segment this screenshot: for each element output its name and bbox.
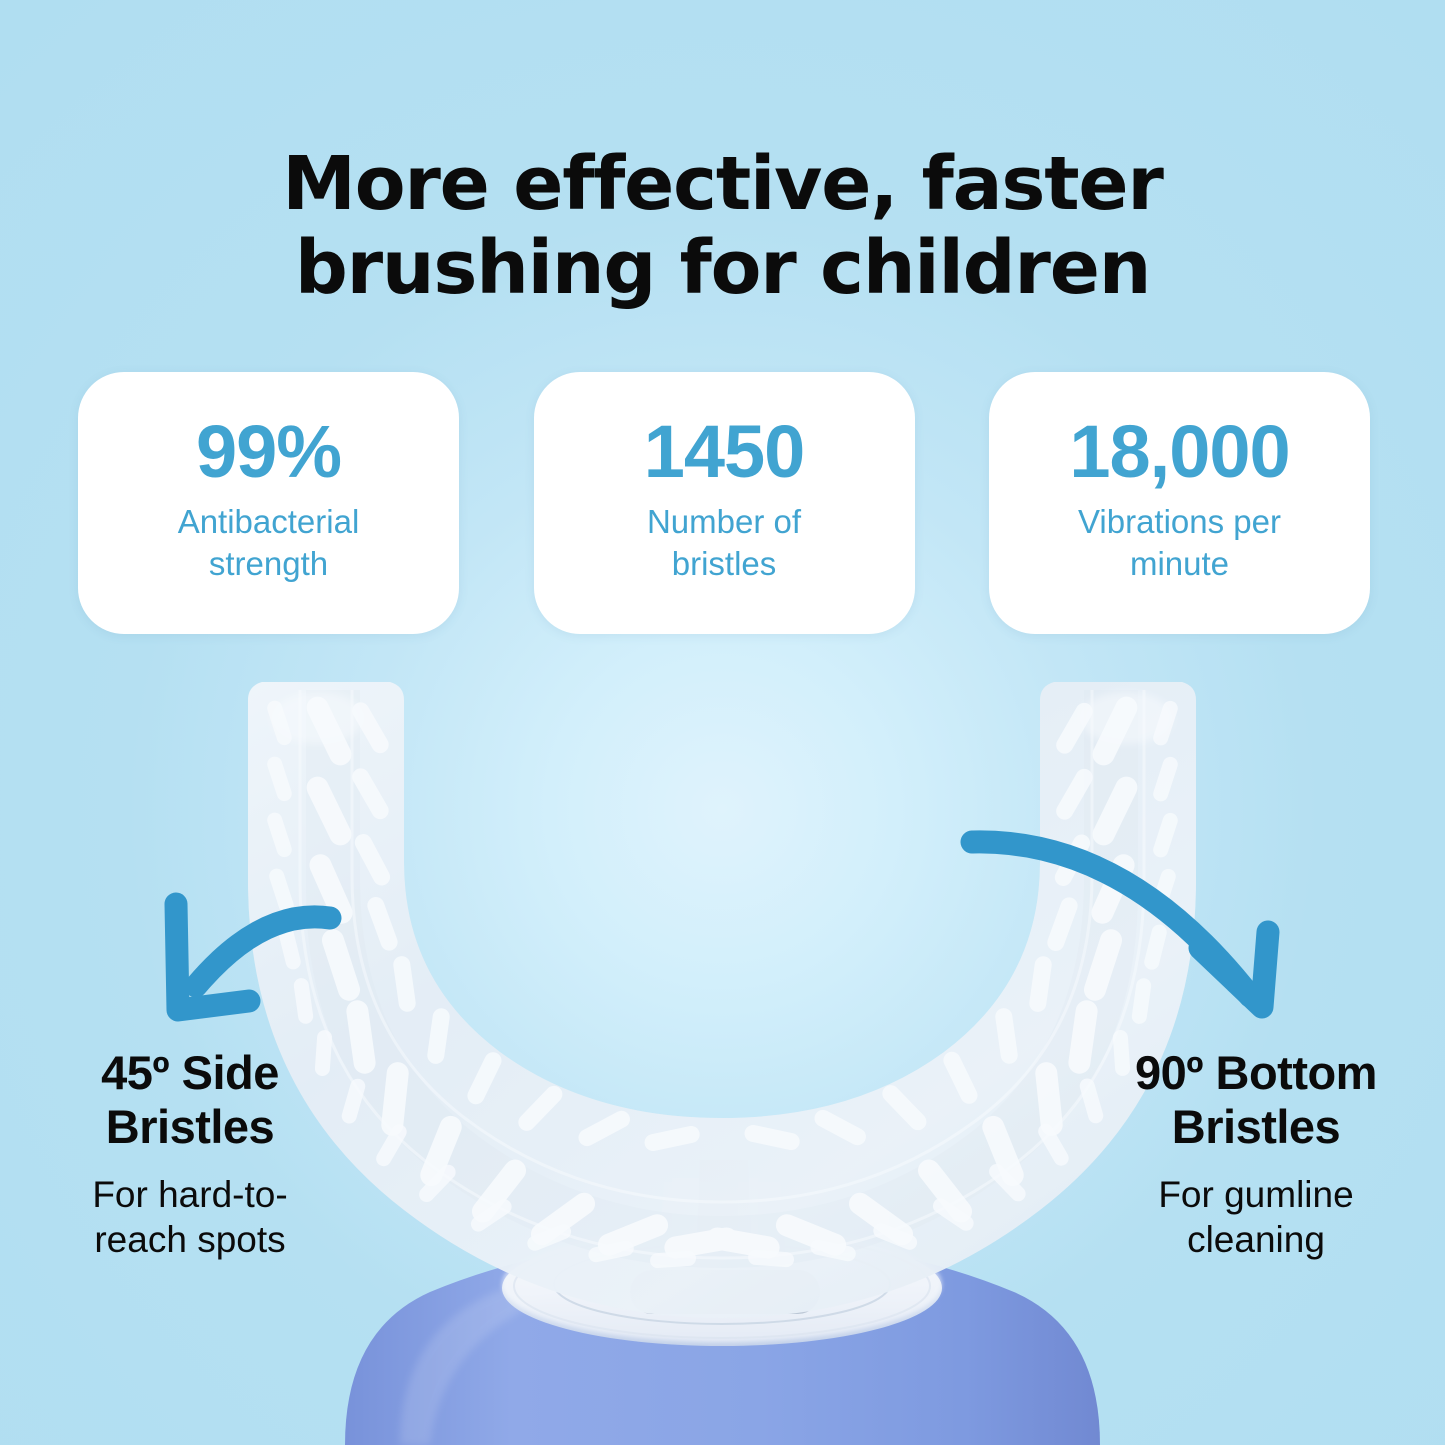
stat-label: Vibrations per minute [1078, 501, 1281, 584]
stat-label-line-2: bristles [672, 545, 777, 582]
stat-label: Antibacterial strength [178, 501, 360, 584]
stat-card-list: 99% Antibacterial strength 1450 Number o… [78, 372, 1370, 634]
stat-label-line-1: Antibacterial [178, 503, 360, 540]
promo-graphic: More effective, faster brushing for chil… [0, 0, 1445, 1445]
callout-subtitle: For gumline cleaning [1081, 1173, 1431, 1262]
brush-head-collar [502, 1226, 942, 1346]
callout-bottom-bristles: 90º Bottom Bristles For gumline cleaning [1081, 1046, 1431, 1262]
stat-card-antibacterial: 99% Antibacterial strength [78, 372, 459, 634]
bristle-rows-inner [349, 699, 1096, 1152]
bristle-rows-middle [303, 693, 1141, 1260]
callout-subtitle: For hard-to- reach spots [20, 1173, 360, 1262]
stat-card-bristles: 1450 Number of bristles [534, 372, 915, 634]
callout-side-bristles: 45º Side Bristles For hard-to- reach spo… [20, 1046, 360, 1262]
stat-value: 1450 [644, 415, 805, 489]
stat-label: Number of bristles [647, 501, 801, 584]
stat-label-line-2: strength [209, 545, 328, 582]
callout-title-line-2: Bristles [106, 1100, 274, 1153]
callout-sub-line-1: For gumline [1158, 1174, 1353, 1215]
callout-title: 45º Side Bristles [20, 1046, 360, 1153]
arrow-left [176, 904, 330, 1010]
callout-title: 90º Bottom Bristles [1081, 1046, 1431, 1153]
headline-line-2: brushing for children [295, 225, 1150, 311]
callout-sub-line-2: cleaning [1187, 1219, 1325, 1260]
headline-line-1: More effective, faster [282, 141, 1162, 227]
callout-title-line-1: 45º Side [101, 1046, 279, 1099]
stat-card-vibrations: 18,000 Vibrations per minute [989, 372, 1370, 634]
arrow-right [972, 842, 1268, 1007]
brush-head-neck [658, 1160, 786, 1269]
callout-title-line-2: Bristles [1172, 1100, 1340, 1153]
page-title: More effective, faster brushing for chil… [0, 142, 1445, 311]
stat-label-line-2: minute [1130, 545, 1229, 582]
stat-label-line-1: Number of [647, 503, 801, 540]
stat-value: 99% [196, 415, 341, 489]
callout-sub-line-1: For hard-to- [92, 1174, 287, 1215]
u-shaped-brush-head [248, 682, 1196, 1318]
callout-sub-line-2: reach spots [94, 1219, 285, 1260]
bristle-rows-outer [265, 699, 1179, 1269]
stat-value: 18,000 [1069, 415, 1289, 489]
stat-label-line-1: Vibrations per [1078, 503, 1281, 540]
toothbrush-handle [345, 1238, 1100, 1445]
callout-title-line-1: 90º Bottom [1135, 1046, 1377, 1099]
